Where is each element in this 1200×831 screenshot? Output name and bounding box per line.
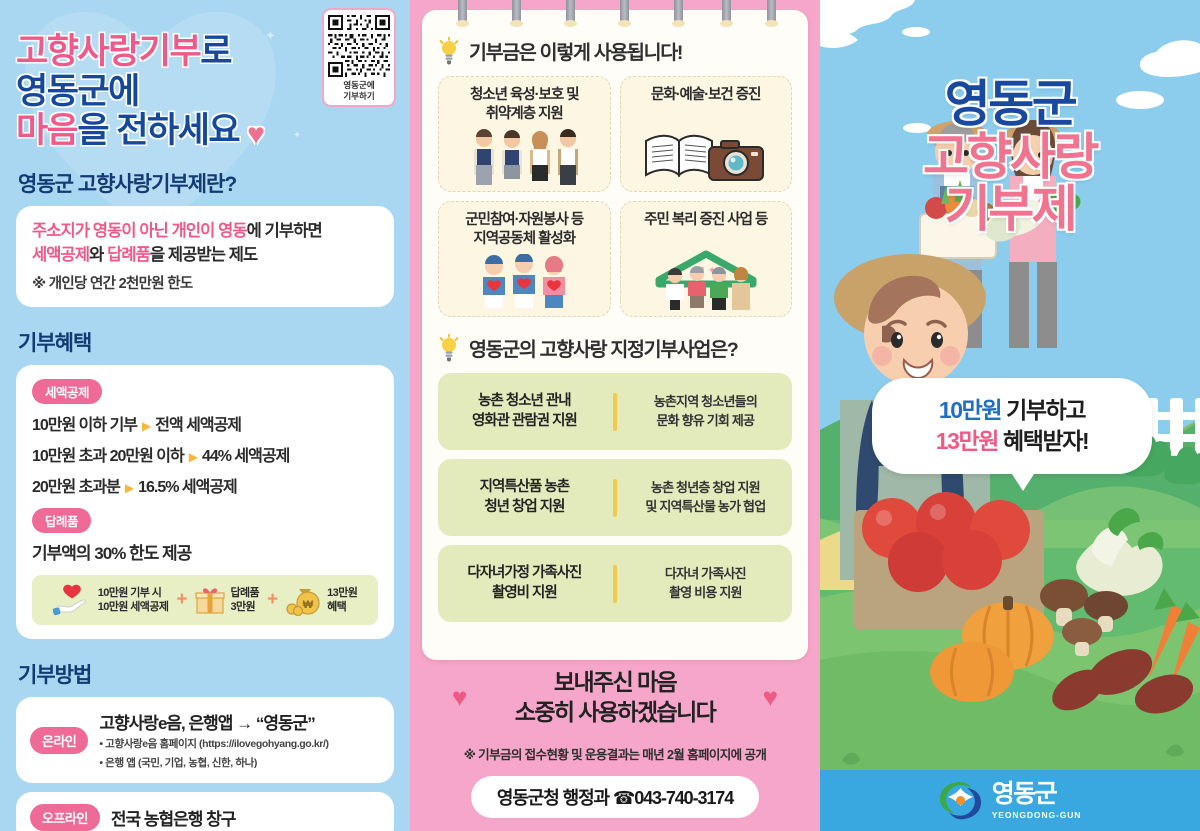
gift-box-icon bbox=[195, 585, 225, 615]
spiral-binding bbox=[422, 0, 808, 30]
summary-item-donation: 10만원 기부 시 10만원 세액공제 bbox=[53, 584, 169, 616]
left-panel: ✦ ✦ ✦ bbox=[0, 0, 410, 831]
intro-note: ※ 개인당 연간 2천만원 한도 bbox=[32, 272, 378, 293]
usage-card-grid: 청소년 육성·보호 및 취약계층 지원 bbox=[438, 76, 792, 317]
arrow-icon: ▶ bbox=[125, 481, 133, 495]
headline-line-3: 마음을 전하세요♥ bbox=[16, 111, 394, 152]
bubble-line-2: 13만원 혜택받자! bbox=[882, 426, 1142, 457]
online-pill: 온라인 bbox=[30, 727, 88, 754]
spiral-ring bbox=[767, 0, 776, 24]
divider bbox=[613, 393, 617, 431]
right-title-line-3: 기부제 bbox=[820, 183, 1200, 236]
contact-badge[interactable]: 영동군청 행정과 ☎043-740-3174 bbox=[471, 776, 759, 818]
heart-hand-icon bbox=[53, 584, 93, 616]
qr-caption: 영동군에 기부하기 bbox=[328, 80, 390, 101]
intro-line-1: 주소지가 영동이 아닌 개인이 영동에 기부하면 bbox=[32, 220, 378, 244]
middle-panel: 기부금은 이렇게 사용됩니다! 청소년 육성·보호 및 취약계층 지원 bbox=[410, 0, 820, 831]
gift-text: 기부액의 30% 한도 제공 bbox=[32, 539, 378, 564]
project-row: 지역특산품 농촌 청년 창업 지원 농촌 청년층 창업 지원 및 지역특산물 농… bbox=[438, 459, 792, 536]
usage-heading: 기부금은 이렇게 사용됩니다! bbox=[469, 36, 682, 65]
intro-card: 주소지가 영동이 아닌 개인이 영동에 기부하면 세액공제와 답례품을 제공받는… bbox=[16, 206, 394, 307]
arrow-icon: ▶ bbox=[142, 419, 150, 433]
right-title: 영동군 고향사랑 기부제 bbox=[820, 78, 1200, 236]
heart-icon: ♥ bbox=[763, 682, 778, 713]
heart-icon: ♥ bbox=[452, 682, 467, 713]
arrow-icon: ▶ bbox=[189, 450, 197, 464]
tax-row: 20만원 초과분▶16.5% 세액공제 bbox=[32, 473, 378, 497]
projects-list: 농촌 청소년 관내 영화관 관람권 지원 농촌지역 청소년들의 문화 향유 기회… bbox=[438, 373, 792, 622]
lightbulb-icon bbox=[438, 37, 460, 65]
heart-icon: ♥ bbox=[247, 118, 263, 151]
spiral-ring bbox=[458, 0, 467, 24]
qr-code-icon[interactable] bbox=[328, 15, 390, 77]
summary-item-total: ₩ 13만원 혜택 bbox=[286, 584, 357, 616]
right-title-line-1: 영동군 bbox=[820, 78, 1200, 131]
divider bbox=[613, 479, 617, 517]
spiral-ring bbox=[566, 0, 575, 24]
usage-card: 군민참여·자원봉사 등 지역공동체 활성화 bbox=[438, 201, 611, 317]
logo-name-ko: 영동군 bbox=[992, 782, 1082, 807]
online-bullet-1[interactable]: • 고향사랑e음 홈페이지 (https://ilovegohyang.go.k… bbox=[99, 737, 328, 753]
lightbulb-icon bbox=[438, 334, 460, 362]
plus-icon: + bbox=[267, 589, 278, 611]
volunteers-icon bbox=[474, 254, 574, 310]
offline-main-text: 전국 농협은행 창구 bbox=[111, 805, 236, 830]
footer-headline: 보내주신 마음 소중히 사용하겠습니다 bbox=[410, 668, 820, 728]
project-row: 농촌 청소년 관내 영화관 관람권 지원 농촌지역 청소년들의 문화 향유 기회… bbox=[438, 373, 792, 450]
usage-heading-row: 기부금은 이렇게 사용됩니다! bbox=[438, 36, 792, 65]
benefit-summary-bar: 10만원 기부 시 10만원 세액공제 + 답례품 3만원 bbox=[32, 575, 378, 625]
online-bullet-2: • 은행 앱 (국민, 기업, 농협, 신한, 하나) bbox=[99, 756, 328, 772]
yeongdong-logo-bar: 영동군 YEONGDONG-GUN bbox=[820, 770, 1200, 831]
benefit-card: 세액공제 10만원 이하 기부▶전액 세액공제 10만원 초과 20만원 이하▶… bbox=[16, 365, 394, 639]
project-row: 다자녀가정 가족사진 촬영비 지원 다자녀 가족사진 촬영 비용 지원 bbox=[438, 545, 792, 622]
divider bbox=[613, 565, 617, 603]
summary-item-gift: 답례품 3만원 bbox=[195, 585, 259, 615]
spiral-ring bbox=[722, 0, 731, 24]
book-camera-icon bbox=[641, 123, 771, 185]
footer-note: ※ 기부금의 접수현황 및 운용결과는 매년 2월 홈페이지에 공개 bbox=[410, 744, 820, 763]
method-online[interactable]: 온라인 고향사랑e음, 은행앱 → “영동군” • 고향사랑e음 홈페이지 (h… bbox=[16, 697, 394, 784]
tax-row: 10만원 이하 기부▶전액 세액공제 bbox=[32, 411, 378, 435]
tax-row: 10만원 초과 20만원 이하▶44% 세액공제 bbox=[32, 442, 378, 466]
usage-card: 문화·예술·보건 증진 bbox=[620, 76, 793, 192]
spiral-ring bbox=[674, 0, 683, 24]
method-offline[interactable]: 오프라인 전국 농협은행 창구 bbox=[16, 792, 394, 831]
yeongdong-emblem-icon bbox=[939, 779, 982, 822]
benefit-speech-bubble: 10만원 기부하고 13만원 혜택받자! bbox=[872, 378, 1152, 474]
benefit-section-title: 기부혜택 bbox=[18, 327, 394, 357]
right-title-line-2: 고향사랑 bbox=[820, 131, 1200, 184]
gift-pill: 답례품 bbox=[32, 508, 91, 533]
right-panel: 영동군 고향사랑 기부제 10만원 기부하고 13만원 혜택받자! 영동군 YE… bbox=[820, 0, 1200, 831]
offline-pill: 오프라인 bbox=[30, 804, 100, 831]
spiral-ring bbox=[620, 0, 629, 24]
logo-name-en: YEONGDONG-GUN bbox=[992, 810, 1082, 820]
online-main-text: 고향사랑e음, 은행앱 → “영동군” bbox=[99, 709, 328, 734]
method-section-title: 기부방법 bbox=[18, 659, 394, 689]
brochure: ✦ ✦ ✦ bbox=[0, 0, 1200, 831]
qr-donate-box[interactable]: 영동군에 기부하기 bbox=[322, 8, 396, 107]
usage-card: 주민 복리 증진 사업 등 ❤ ✦ bbox=[620, 201, 793, 317]
tax-deduction-pill: 세액공제 bbox=[32, 379, 102, 404]
projects-heading-row: 영동군의 고향사랑 지정기부사업은? bbox=[438, 333, 792, 362]
notepad-content: 기부금은 이렇게 사용됩니다! 청소년 육성·보호 및 취약계층 지원 bbox=[422, 10, 808, 641]
intro-section-title: 영동군 고향사랑기부제란? bbox=[18, 168, 394, 198]
bubble-line-1: 10만원 기부하고 bbox=[882, 395, 1142, 426]
family-house-icon: ❤ ✦ bbox=[641, 248, 771, 310]
money-bag-icon: ₩ bbox=[286, 584, 322, 616]
svg-text:₩: ₩ bbox=[303, 599, 314, 611]
intro-line-2: 세액공제와 답례품을 제공받는 제도 bbox=[32, 244, 378, 268]
students-icon bbox=[464, 127, 584, 185]
projects-heading: 영동군의 고향사랑 지정기부사업은? bbox=[469, 333, 737, 362]
spiral-ring bbox=[512, 0, 521, 24]
plus-icon: + bbox=[176, 589, 187, 611]
middle-footer: ♥ ♥ 보내주신 마음 소중히 사용하겠습니다 ※ 기부금의 접수현황 및 운용… bbox=[410, 668, 820, 818]
usage-card: 청소년 육성·보호 및 취약계층 지원 bbox=[438, 76, 611, 192]
